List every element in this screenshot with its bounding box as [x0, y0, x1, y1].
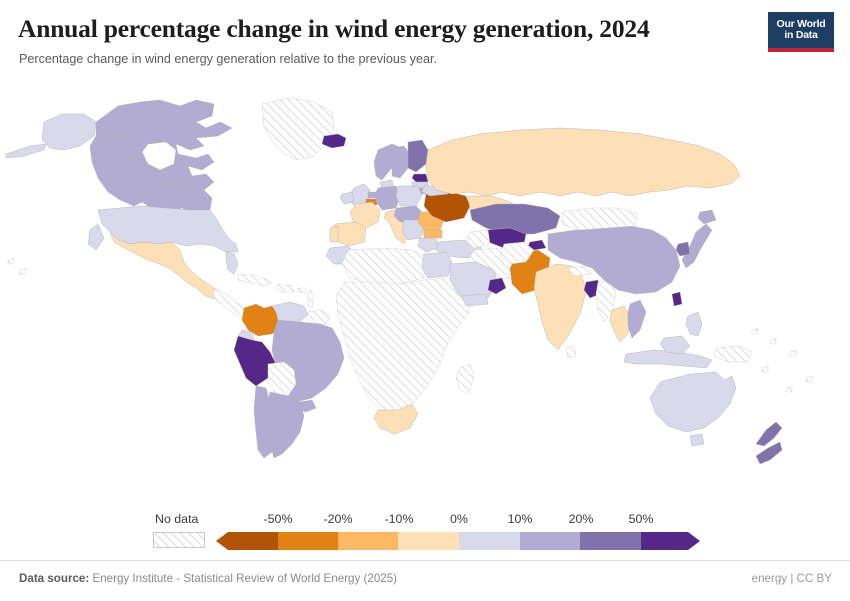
country-subsaharan-africa[interactable]	[336, 278, 472, 414]
country-sri-lanka[interactable]	[566, 346, 576, 358]
legend-bin-0[interactable]	[216, 532, 278, 550]
country-ireland[interactable]	[340, 192, 354, 204]
country-taiwan[interactable]	[672, 292, 682, 306]
country-puerto-rico[interactable]	[298, 288, 306, 292]
owid-logo[interactable]: Our World in Data	[768, 12, 834, 52]
country-aleutians[interactable]	[6, 144, 46, 158]
legend-tick-2: -10%	[385, 512, 414, 526]
country-germany[interactable]	[376, 186, 400, 210]
country-tasmania[interactable]	[690, 434, 704, 446]
legend-tick-labels: -50% -20% -10% 0% 10% 20% 50%	[0, 512, 850, 530]
country-hispaniola[interactable]	[276, 284, 294, 292]
legend-tick-1: -20%	[324, 512, 353, 526]
country-indonesia[interactable]	[624, 350, 712, 368]
country-uruguay[interactable]	[300, 400, 316, 412]
legend-bin-6[interactable]	[580, 532, 641, 550]
legend-bin-7[interactable]	[641, 532, 700, 550]
map-svg[interactable]	[0, 92, 850, 492]
country-hokkaido[interactable]	[698, 210, 716, 224]
country-mongolia[interactable]	[562, 208, 638, 230]
country-north-africa[interactable]	[342, 248, 424, 284]
country-philippines[interactable]	[686, 312, 702, 336]
country-florida[interactable]	[226, 252, 238, 274]
country-oman[interactable]	[488, 278, 506, 294]
chart-subtitle: Percentage change in wind energy generat…	[19, 52, 437, 66]
country-nepal[interactable]	[568, 266, 592, 276]
data-source-prefix: Data source:	[19, 572, 89, 585]
country-cuba[interactable]	[238, 274, 272, 286]
chart-footer: Data source: Energy Institute - Statisti…	[0, 560, 850, 601]
country-yemen[interactable]	[462, 294, 488, 306]
legend-tick-6: 50%	[629, 512, 654, 526]
map-legend: No data -50% -20% -10% 0% 10% 20% 50%	[0, 500, 850, 562]
country-thailand[interactable]	[610, 306, 630, 342]
data-source-text: Energy Institute - Statistical Review of…	[89, 572, 397, 585]
country-lesser-antilles[interactable]	[308, 290, 314, 308]
country-iceland[interactable]	[322, 134, 346, 148]
country-portugal[interactable]	[330, 226, 338, 242]
country-india[interactable]	[534, 264, 586, 350]
country-argentina[interactable]	[268, 392, 304, 458]
chart-header: Annual percentage change in wind energy …	[0, 0, 850, 86]
country-egypt[interactable]	[422, 252, 452, 278]
country-madagascar[interactable]	[456, 364, 474, 394]
footer-attribution[interactable]: energy | CC BY	[752, 572, 832, 585]
country-estonia[interactable]	[412, 174, 428, 182]
country-guianas[interactable]	[306, 310, 330, 324]
legend-tick-5: 20%	[569, 512, 594, 526]
data-source-line: Data source: Energy Institute - Statisti…	[19, 572, 397, 585]
country-atlantic-specks[interactable]	[8, 258, 26, 274]
legend-bin-2[interactable]	[338, 532, 398, 550]
country-poland[interactable]	[396, 186, 422, 206]
country-finland[interactable]	[408, 140, 428, 172]
page-title: Annual percentage change in wind energy …	[18, 14, 650, 44]
country-kazakhstan[interactable]	[470, 204, 560, 234]
country-vietnam[interactable]	[628, 300, 646, 338]
country-new-zealand[interactable]	[756, 422, 782, 464]
legend-color-bar[interactable]	[216, 532, 700, 550]
legend-tick-4: 10%	[508, 512, 533, 526]
legend-bin-4[interactable]	[459, 532, 520, 550]
legend-bin-5[interactable]	[520, 532, 580, 550]
country-papua-new-guinea[interactable]	[714, 346, 752, 362]
country-greenland[interactable]	[262, 98, 334, 160]
country-bulgaria[interactable]	[424, 230, 442, 238]
legend-bin-3[interactable]	[398, 532, 459, 550]
country-pacific-islands[interactable]	[752, 328, 796, 372]
country-australia[interactable]	[650, 372, 736, 432]
country-alaska[interactable]	[42, 114, 96, 150]
country-south-pacific-specks[interactable]	[786, 376, 812, 392]
country-central-europe[interactable]	[394, 206, 422, 222]
map-countries[interactable]	[6, 98, 812, 464]
world-choropleth-map[interactable]	[0, 92, 850, 492]
legend-tick-3: 0%	[450, 512, 468, 526]
legend-bin-1[interactable]	[278, 532, 338, 550]
legend-tick-0: -50%	[264, 512, 293, 526]
country-south-korea[interactable]	[676, 242, 690, 256]
country-greece[interactable]	[418, 238, 438, 252]
country-sweden[interactable]	[392, 146, 410, 178]
owid-logo-line2: in Data	[784, 30, 817, 41]
no-data-swatch[interactable]	[153, 532, 205, 548]
